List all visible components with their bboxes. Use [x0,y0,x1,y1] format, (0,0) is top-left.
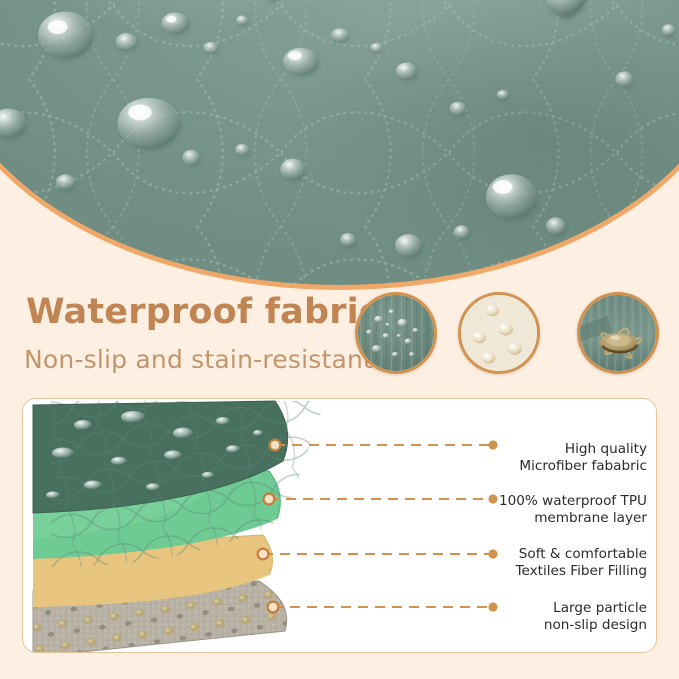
layer-label-line2: membrane layer [499,510,647,527]
hero-fabric-ellipse [0,0,679,290]
layer-label-line2: Textiles Fiber Filling [515,563,647,580]
hero-image [0,0,679,290]
layer-label-line2: non-slip design [544,617,647,634]
stain-resist-inset [577,292,659,374]
layer-label-filling: Soft & comfortable Textiles Fiber Fillin… [515,546,647,579]
cream-fabric-inset [458,292,540,374]
page-title: Waterproof fabric [26,292,380,332]
water-droplets [0,0,679,285]
layer-label-line2: Microfiber fababric [519,458,647,475]
layer-label-line1: Large particle [544,600,647,617]
layer-label-microfiber: High quality Microfiber fababric [519,441,647,474]
infographic-page: Waterproof fabric Non-slip and stain-res… [0,0,679,679]
water-beading-inset [355,292,437,374]
layer-label-line1: Soft & comfortable [515,546,647,563]
layer-label-tpu: 100% waterproof TPU membrane layer [499,493,647,526]
page-subtitle: Non-slip and stain-resistant [24,345,373,374]
layer-label-line1: 100% waterproof TPU [499,493,647,510]
layer-microfiber [23,399,323,579]
layer-label-nonslip: Large particle non-slip design [544,600,647,633]
layer-label-line1: High quality [519,441,647,458]
